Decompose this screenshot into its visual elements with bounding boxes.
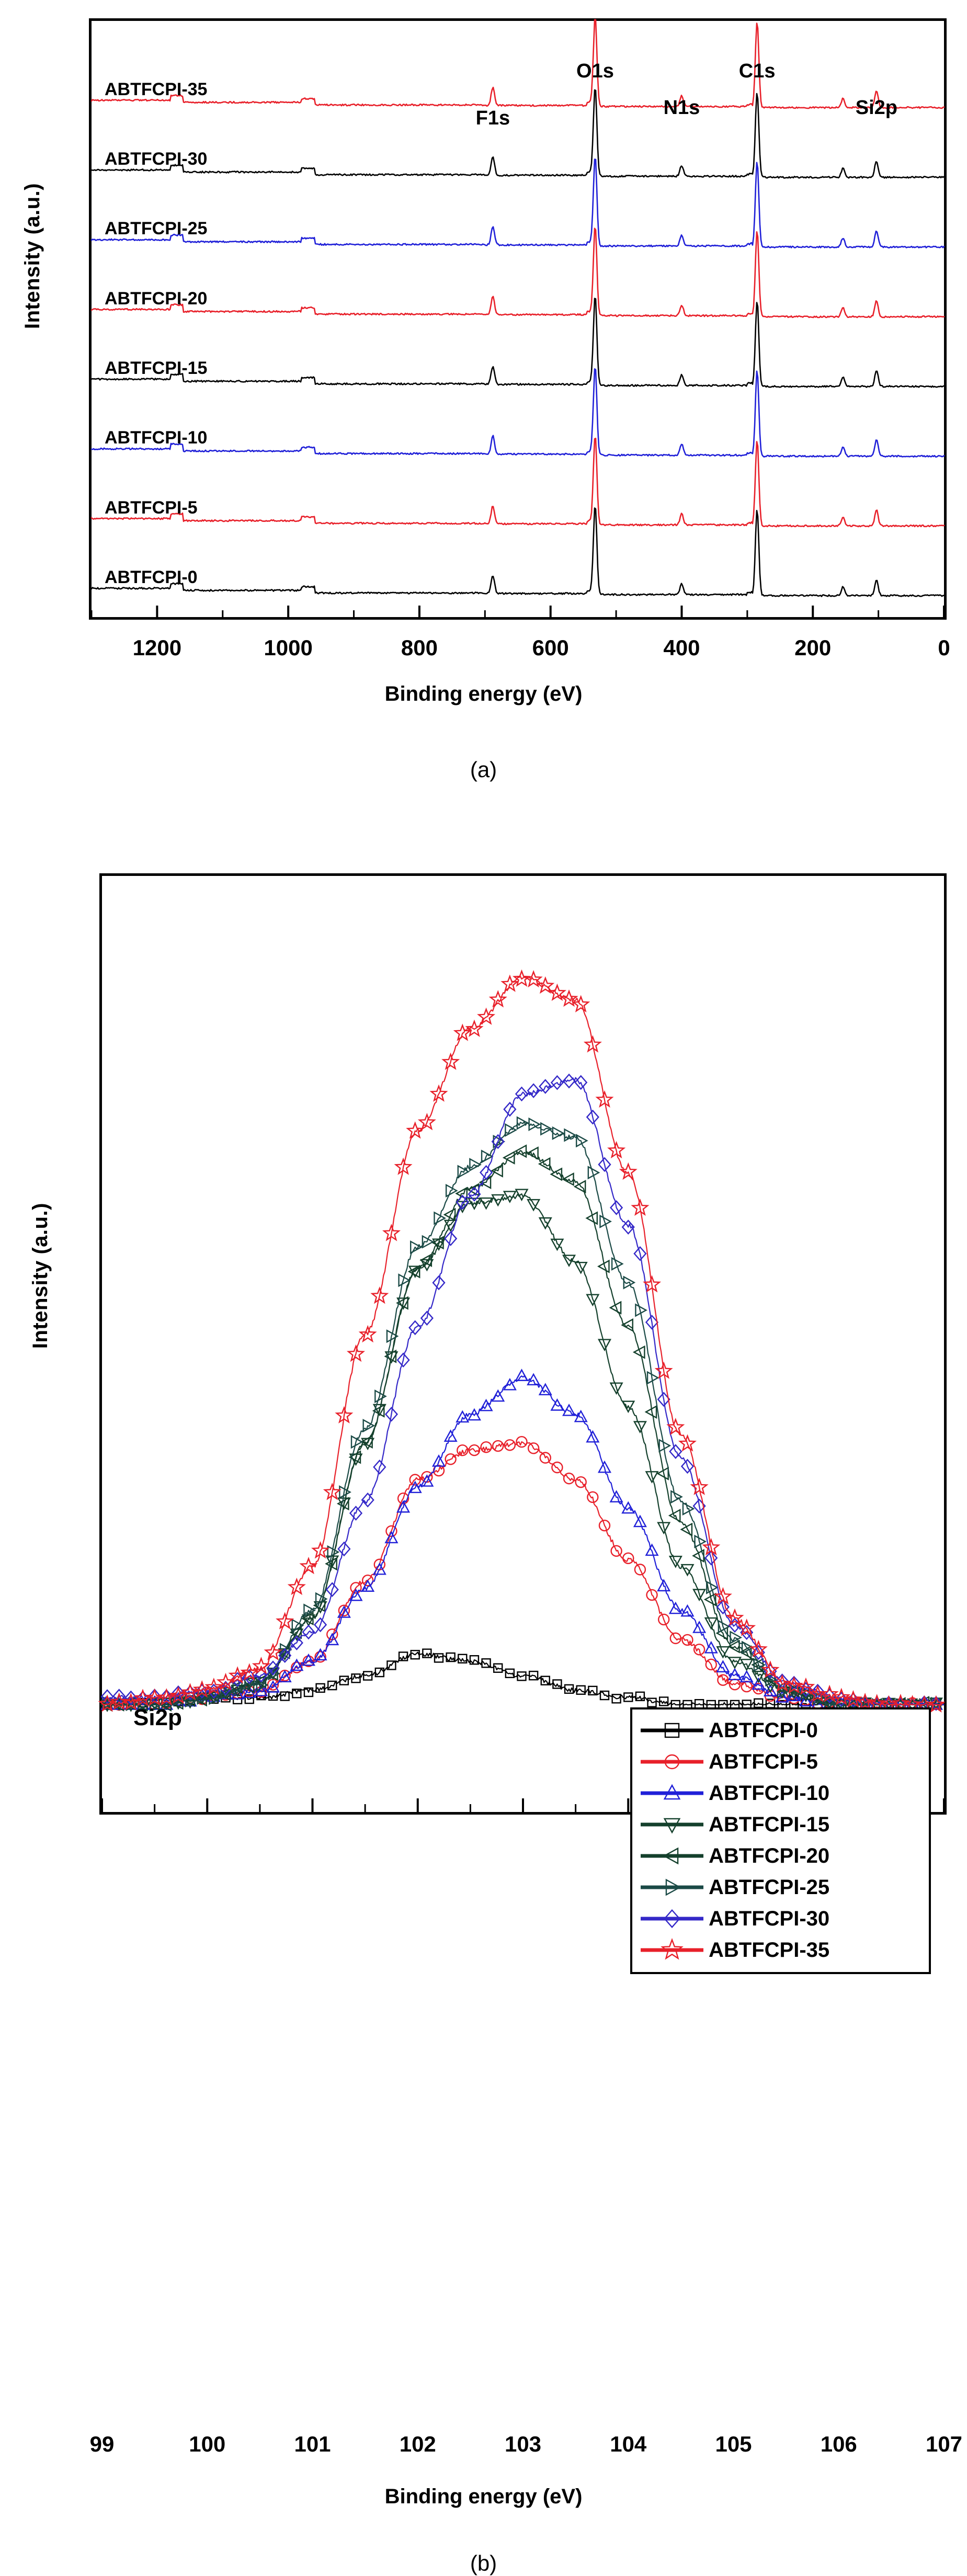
triangle-up-marker xyxy=(639,1780,706,1807)
triangle-right-marker xyxy=(639,1874,706,1901)
legend-item-abtfcpi-5[interactable]: ABTFCPI-5 xyxy=(639,1746,923,1777)
panel-a-x-tick: 600 xyxy=(532,635,569,660)
panel-a-trace-label: ABTFCPI-0 xyxy=(105,567,198,588)
panel-b-x-tick: 104 xyxy=(610,2432,646,2457)
panel-b-si2p-annotation: Si2p xyxy=(133,1705,182,1731)
legend-item-abtfcpi-25[interactable]: ABTFCPI-25 xyxy=(639,1872,923,1903)
panel-a-x-tick: 200 xyxy=(794,635,831,660)
panel-b-y-axis-label: Intensity (a.u.) xyxy=(29,1203,52,1349)
panel-a-x-tick: 1000 xyxy=(264,635,312,660)
legend-item-abtfcpi-10[interactable]: ABTFCPI-10 xyxy=(639,1777,923,1809)
panel-b-caption: (b) xyxy=(0,2551,967,2576)
panel-a-trace-label: ABTFCPI-25 xyxy=(105,219,207,239)
panel-b-x-tick: 106 xyxy=(821,2432,857,2457)
diamond-marker xyxy=(639,1905,706,1932)
panel-a-x-axis-label: Binding energy (eV) xyxy=(0,682,967,706)
panel-a-trace-label: ABTFCPI-10 xyxy=(105,428,207,448)
panel-a-x-tick-labels: 120010008006004002000 xyxy=(0,635,967,667)
panel-b-plot-area xyxy=(99,873,947,1815)
panel-b-x-tick: 101 xyxy=(294,2432,331,2457)
panel-a-peak-label-f1s: F1s xyxy=(476,107,510,130)
panel-a-trace-label: ABTFCPI-15 xyxy=(105,358,207,379)
triangle-down-marker xyxy=(639,1811,706,1838)
legend-item-label: ABTFCPI-20 xyxy=(706,1844,829,1868)
panel-a-survey-spectra: Intensity (a.u.) 120010008006004002000 B… xyxy=(0,0,967,748)
panel-a-x-tick: 1200 xyxy=(133,635,181,660)
circle-marker xyxy=(639,1748,706,1775)
legend-item-label: ABTFCPI-15 xyxy=(706,1813,829,1837)
panel-b-si2p-spectra: Intensity (a.u.) Si2p ABTFCPI-0ABTFCPI-5… xyxy=(0,816,967,1782)
legend-item-abtfcpi-35[interactable]: ABTFCPI-35 xyxy=(639,1934,923,1966)
panel-a-spectra-canvas xyxy=(92,21,944,617)
panel-a-peak-label-o1s: O1s xyxy=(576,60,614,83)
panel-b-x-tick: 100 xyxy=(189,2432,225,2457)
square-marker xyxy=(639,1717,706,1744)
panel-a-x-tick: 0 xyxy=(938,635,950,660)
panel-a-caption: (a) xyxy=(0,757,967,782)
panel-b-x-tick: 107 xyxy=(926,2432,962,2457)
panel-b-x-tick-labels: 99100101102103104105106107 xyxy=(0,2432,967,2463)
legend-item-label: ABTFCPI-5 xyxy=(706,1750,818,1774)
panel-b-x-tick: 99 xyxy=(90,2432,115,2457)
legend-item-abtfcpi-0[interactable]: ABTFCPI-0 xyxy=(639,1715,923,1746)
panel-b-x-axis-label: Binding energy (eV) xyxy=(0,2485,967,2509)
panel-b-x-tick: 102 xyxy=(400,2432,436,2457)
panel-b-spectra-canvas xyxy=(102,876,944,1812)
legend-item-abtfcpi-15[interactable]: ABTFCPI-15 xyxy=(639,1809,923,1840)
legend-item-abtfcpi-20[interactable]: ABTFCPI-20 xyxy=(639,1840,923,1872)
legend-item-abtfcpi-30[interactable]: ABTFCPI-30 xyxy=(639,1903,923,1934)
panel-b-legend: ABTFCPI-0ABTFCPI-5ABTFCPI-10ABTFCPI-15AB… xyxy=(630,1707,931,1974)
panel-a-trace-label: ABTFCPI-20 xyxy=(105,289,207,309)
panel-a-y-axis-label: Intensity (a.u.) xyxy=(21,183,44,329)
panel-a-peak-label-c1s: C1s xyxy=(739,60,776,83)
panel-b-x-tick: 103 xyxy=(505,2432,541,2457)
panel-a-trace-label: ABTFCPI-5 xyxy=(105,498,198,518)
legend-item-label: ABTFCPI-35 xyxy=(706,1939,829,1962)
legend-item-label: ABTFCPI-25 xyxy=(706,1876,829,1899)
panel-a-peak-label-n1s: N1s xyxy=(664,97,700,119)
xps-figure: Intensity (a.u.) 120010008006004002000 B… xyxy=(0,0,967,1782)
legend-item-label: ABTFCPI-0 xyxy=(706,1719,818,1742)
panel-b-x-tick: 105 xyxy=(715,2432,752,2457)
legend-item-label: ABTFCPI-30 xyxy=(706,1907,829,1931)
star-marker xyxy=(639,1936,706,1964)
triangle-left-marker xyxy=(639,1842,706,1870)
panel-a-plot-area xyxy=(89,18,947,620)
panel-a-trace-label: ABTFCPI-30 xyxy=(105,149,207,169)
panel-a-peak-label-si2p: Si2p xyxy=(856,97,897,119)
panel-a-x-tick: 400 xyxy=(663,635,700,660)
legend-item-label: ABTFCPI-10 xyxy=(706,1782,829,1805)
panel-a-trace-label: ABTFCPI-35 xyxy=(105,79,207,100)
panel-a-x-tick: 800 xyxy=(401,635,438,660)
